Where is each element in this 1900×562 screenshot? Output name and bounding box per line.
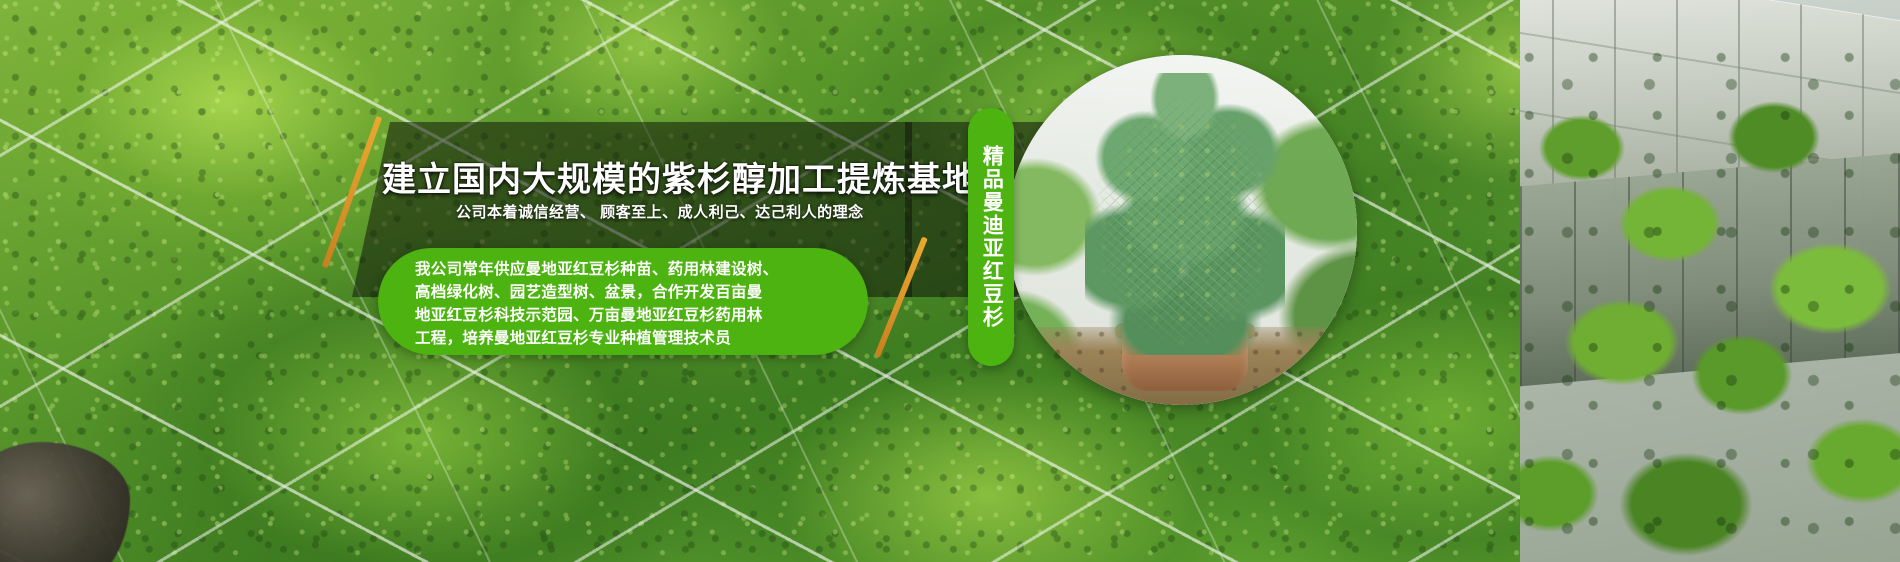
banner-stage: 建立国内大规模的紫杉醇加工提炼基地 公司本着诚信经营、 顾客至上、成人利己、达己…: [0, 0, 1900, 562]
vertical-badge-label: 精品曼迪亚红豆杉: [980, 145, 1003, 329]
pill-line-4: 工程，培养曼地亚红豆杉专业种植管理技术员: [415, 327, 845, 350]
yew-tree-needle-texture: [1067, 69, 1303, 365]
pill-line-1: 我公司常年供应曼地亚红豆杉种苗、药用林建设树、: [415, 258, 845, 281]
circular-product-photo: [1007, 55, 1357, 405]
photo-edge-shadow: [1520, 0, 1590, 562]
green-pill-text: 我公司常年供应曼地亚红豆杉种苗、药用林建设树、 高档绿化树、园艺造型树、盆景，合…: [415, 258, 845, 350]
pill-line-3: 地亚红豆杉科技示范园、万亩曼地亚红豆杉药用林: [415, 304, 845, 327]
vertical-product-badge: 精品曼迪亚红豆杉: [968, 108, 1014, 366]
greenhouse-grapevine-photo: [1520, 0, 1900, 562]
pill-line-2: 高档绿化树、园艺造型树、盆景，合作开发百亩曼: [415, 281, 845, 304]
